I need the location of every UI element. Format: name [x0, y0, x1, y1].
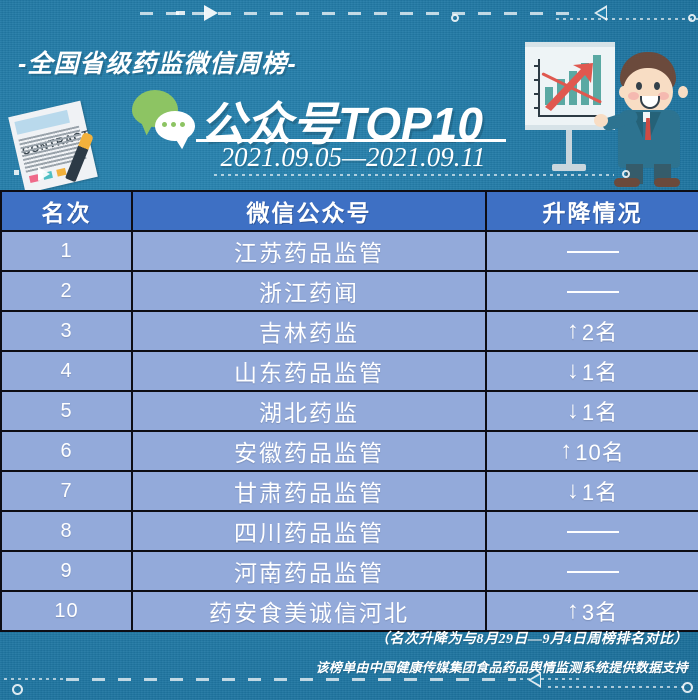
ranking-table-wrapper: 名次 微信公众号 升降情况 1 江苏药品监管 2 浙江药闻 3	[0, 190, 698, 632]
presenter-shoe-right	[654, 178, 680, 187]
chart-x-axis	[538, 115, 600, 117]
column-header-account: 微信公众号	[132, 191, 486, 231]
board-stand-base	[552, 164, 586, 171]
cell-rank: 2	[1, 271, 132, 311]
table-row: 6 安徽药品监管 ↑10名	[1, 431, 698, 471]
cell-change	[486, 271, 698, 311]
presenter-shoe-left	[614, 178, 640, 187]
rank-up-arrow-icon: ↑	[567, 319, 580, 343]
cell-account: 药安食美诚信河北	[132, 591, 486, 631]
chat-bubble-dots-icon	[162, 122, 185, 127]
top-left-triangle-icon	[594, 5, 607, 21]
footnote-source: 该榜单由中国健康传媒集团食品药品舆情监测系统提供数据支持	[316, 657, 688, 676]
table-row: 9 河南药品监管	[1, 551, 698, 591]
presenter-ear-left	[619, 86, 628, 98]
cell-change: ↓1名	[486, 391, 698, 431]
poster-eyebrow: -全国省级药监微信周榜-	[18, 44, 297, 80]
table-row: 10 药安食美诚信河北 ↑3名	[1, 591, 698, 631]
cell-account: 河南药品监管	[132, 551, 486, 591]
chat-bubble-icon	[132, 90, 198, 146]
column-header-rank: 名次	[1, 191, 132, 231]
cell-change: ↓1名	[486, 351, 698, 391]
chart-tick	[534, 107, 540, 109]
cell-account: 浙江药闻	[132, 271, 486, 311]
bottom-ring-icon	[12, 684, 23, 695]
left-square-marker	[14, 170, 19, 175]
cell-rank: 5	[1, 391, 132, 431]
change-amount: 10名	[575, 435, 624, 467]
cell-rank: 7	[1, 471, 132, 511]
cell-rank: 3	[1, 311, 132, 351]
table-row: 5 湖北药监 ↓1名	[1, 391, 698, 431]
table-body: 1 江苏药品监管 2 浙江药闻 3 吉林药监 ↑2名 4 山东药品监管	[1, 231, 698, 631]
rank-down-arrow-icon: ↓	[567, 359, 580, 383]
no-change-dash-icon	[567, 291, 619, 293]
change-amount: 1名	[582, 355, 618, 387]
cell-rank: 8	[1, 511, 132, 551]
cell-account: 甘肃药品监管	[132, 471, 486, 511]
presenter-figure	[610, 52, 696, 184]
board-stand-pole	[566, 130, 572, 166]
cell-rank: 6	[1, 431, 132, 471]
top-right-ring-icon	[688, 14, 696, 22]
presenter-hand	[594, 114, 608, 127]
chart-tick	[534, 79, 540, 81]
contract-illustration: CONTRACT	[2, 104, 122, 190]
poster-root: -全国省级药监微信周榜- 公众号TOP10 2021.09.05—2021.09…	[0, 0, 698, 700]
top-play-triangle-icon	[204, 5, 218, 21]
cell-change	[486, 551, 698, 591]
rank-up-arrow-icon: ↑	[567, 599, 580, 623]
change-amount: 3名	[582, 595, 618, 627]
no-change-dash-icon	[567, 251, 619, 253]
presenter-eye-right	[654, 82, 660, 90]
mid-ring-icon	[622, 170, 630, 178]
cell-change: ↑10名	[486, 431, 698, 471]
bottom-right-ring-icon	[682, 682, 693, 693]
top-square-marker	[176, 11, 185, 15]
change-amount: 1名	[582, 395, 618, 427]
cell-change: ↑3名	[486, 591, 698, 631]
presenter-illustration	[500, 30, 698, 190]
left-play-triangle-icon	[38, 167, 50, 181]
bottom-dot-line	[4, 678, 64, 680]
rank-down-arrow-icon: ↓	[567, 479, 580, 503]
rank-up-arrow-icon: ↑	[560, 439, 573, 463]
bottom-left-triangle-icon	[528, 672, 541, 688]
table-row: 1 江苏药品监管	[1, 231, 698, 271]
no-change-dash-icon	[567, 571, 619, 573]
chart-tick	[534, 93, 540, 95]
change-amount: 2名	[582, 315, 618, 347]
bottom-dash-line	[66, 678, 516, 681]
chart-tick	[534, 65, 540, 67]
column-header-change: 升降情况	[486, 191, 698, 231]
cell-account: 四川药品监管	[132, 511, 486, 551]
cell-rank: 4	[1, 351, 132, 391]
mid-dot-line	[214, 174, 614, 176]
presenter-eye-left	[636, 82, 642, 90]
footnote-comparison: （名次升降为与8月29日—9月4日周榜排名对比）	[316, 628, 688, 648]
cell-account: 吉林药监	[132, 311, 486, 351]
cell-account: 山东药品监管	[132, 351, 486, 391]
presenter-ear-right	[678, 86, 688, 98]
cell-account: 安徽药品监管	[132, 431, 486, 471]
cell-change	[486, 511, 698, 551]
cell-account: 湖北药监	[132, 391, 486, 431]
presenter-cheek-left	[628, 92, 639, 100]
presenter-lapel-right	[650, 112, 661, 138]
table-row: 2 浙江药闻	[1, 271, 698, 311]
cell-rank: 10	[1, 591, 132, 631]
top-dot-line	[556, 18, 698, 20]
no-change-dash-icon	[567, 531, 619, 533]
cell-rank: 9	[1, 551, 132, 591]
cell-change: ↑2名	[486, 311, 698, 351]
table-row: 3 吉林药监 ↑2名	[1, 311, 698, 351]
cell-change: ↓1名	[486, 471, 698, 511]
table-row: 8 四川药品监管	[1, 511, 698, 551]
top-ring-icon	[451, 14, 459, 22]
table-row: 4 山东药品监管 ↓1名	[1, 351, 698, 391]
date-range: 2021.09.05—2021.09.11	[198, 142, 508, 173]
bottom-dot-line-tail	[548, 686, 684, 688]
cell-rank: 1	[1, 231, 132, 271]
cell-change	[486, 231, 698, 271]
table-header-row: 名次 微信公众号 升降情况	[1, 191, 698, 231]
cell-account: 江苏药品监管	[132, 231, 486, 271]
ranking-table: 名次 微信公众号 升降情况 1 江苏药品监管 2 浙江药闻 3	[0, 190, 698, 632]
change-amount: 1名	[582, 475, 618, 507]
footer-notes: （名次升降为与8月29日—9月4日周榜排名对比） 该榜单由中国健康传媒集团食品药…	[316, 628, 688, 676]
rank-down-arrow-icon: ↓	[567, 399, 580, 423]
table-row: 7 甘肃药品监管 ↓1名	[1, 471, 698, 511]
